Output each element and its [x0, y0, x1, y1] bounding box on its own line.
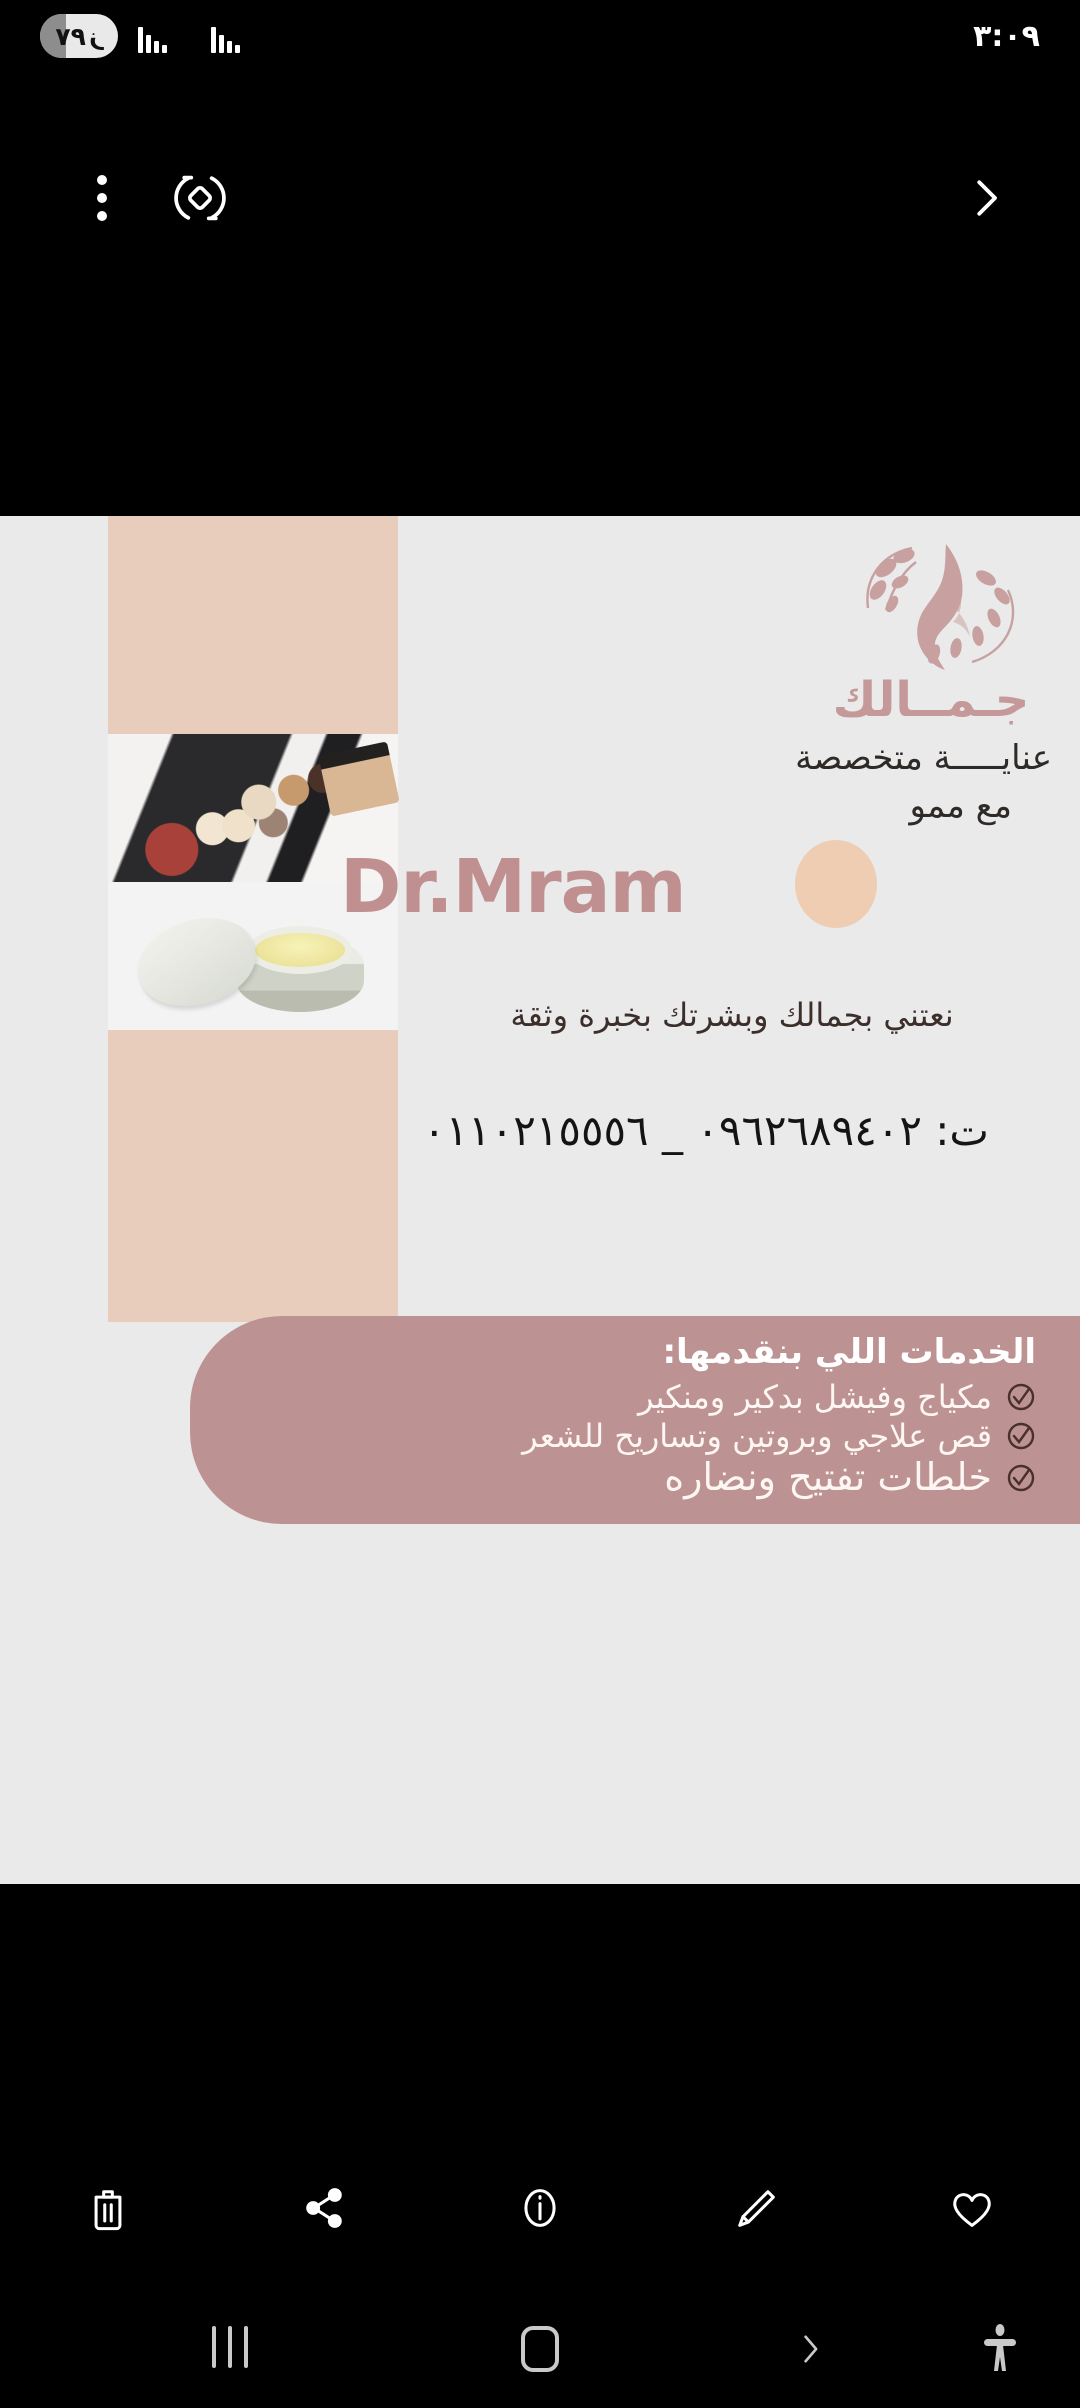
check-icon: [1006, 1382, 1036, 1412]
peach-block-bottom: [108, 1030, 398, 1322]
services-title: الخدمات اللي بنقدمها:: [190, 1332, 1036, 1373]
flyer-subtitle-1: عنايـــــة متخصصة: [412, 738, 1052, 778]
signal-bars-icon: [138, 19, 167, 53]
check-icon: [1006, 1463, 1036, 1493]
android-nav-bar: [0, 2290, 1080, 2408]
service-item: مكياج وفيشل بدكير ومنكير: [190, 1379, 1036, 1416]
share-icon[interactable]: [269, 2158, 379, 2258]
service-label: خلطات تفتيح ونضاره: [664, 1456, 992, 1500]
flyer-image[interactable]: جـمــالك عنايـــــة متخصصة مع ممو Dr.Mra…: [0, 516, 1080, 1884]
charging-bolt-icon: ﺯ: [89, 22, 103, 50]
status-bar: ٧٩ ﺯ ٣:٠٩: [0, 0, 1080, 72]
accessibility-icon[interactable]: [940, 2290, 1060, 2408]
service-item: قص علاجي وبروتين وتساريح للشعر: [190, 1418, 1036, 1455]
phone-screen: ٧٩ ﺯ ٣:٠٩: [0, 0, 1080, 2408]
battery-indicator: ٧٩ ﺯ: [40, 14, 118, 58]
woman-face-leaves-logo: [826, 538, 1036, 688]
bixby-vision-icon[interactable]: [152, 150, 248, 246]
status-bar-left: ٧٩ ﺯ: [40, 14, 240, 58]
check-icon: [1006, 1421, 1036, 1451]
service-label: مكياج وفيشل بدكير ومنكير: [638, 1379, 992, 1416]
info-icon[interactable]: [485, 2158, 595, 2258]
flyer-subtitle-2: مع ممو: [412, 786, 1052, 826]
app-toolbar: [0, 150, 1080, 260]
flyer-left-column: [108, 516, 398, 1884]
chevron-right-icon[interactable]: [938, 150, 1034, 246]
delete-icon[interactable]: [53, 2158, 163, 2258]
brand-row: Dr.Mram: [340, 846, 950, 956]
logo-wordmark: جـمــالك: [826, 676, 1036, 724]
service-label: قص علاجي وبروتين وتساريح للشعر: [522, 1418, 992, 1455]
services-panel: الخدمات اللي بنقدمها: مكياج وفيشل بدكير …: [190, 1316, 1080, 1524]
decorative-circle: [795, 840, 877, 928]
heart-icon[interactable]: [917, 2158, 1027, 2258]
edit-pencil-icon[interactable]: [701, 2158, 811, 2258]
flyer-tagline: نعتني بجمالك وبشرتك بخبرة وثقة: [412, 996, 1052, 1034]
contact-phone-numbers: ت: ٠٩٦٢٦٨٩٤٠٢ _ ٠١١٠٢١٥٥٥٦: [356, 1106, 1056, 1155]
back-icon[interactable]: [740, 2290, 880, 2408]
signal-bars-secondary-icon: [211, 19, 240, 53]
peach-block-top: [108, 516, 398, 734]
brand-name: Dr.Mram: [340, 850, 686, 924]
home-icon[interactable]: [470, 2290, 610, 2408]
more-options-icon[interactable]: [54, 150, 150, 246]
service-item: خلطات تفتيح ونضاره: [190, 1456, 1036, 1500]
brand-logo: جـمــالك: [826, 538, 1036, 718]
recents-icon[interactable]: [160, 2290, 300, 2408]
battery-level-label: ٧٩: [55, 22, 88, 51]
clock-label: ٣:٠٩: [973, 19, 1040, 54]
image-action-bar: [0, 2148, 1080, 2268]
